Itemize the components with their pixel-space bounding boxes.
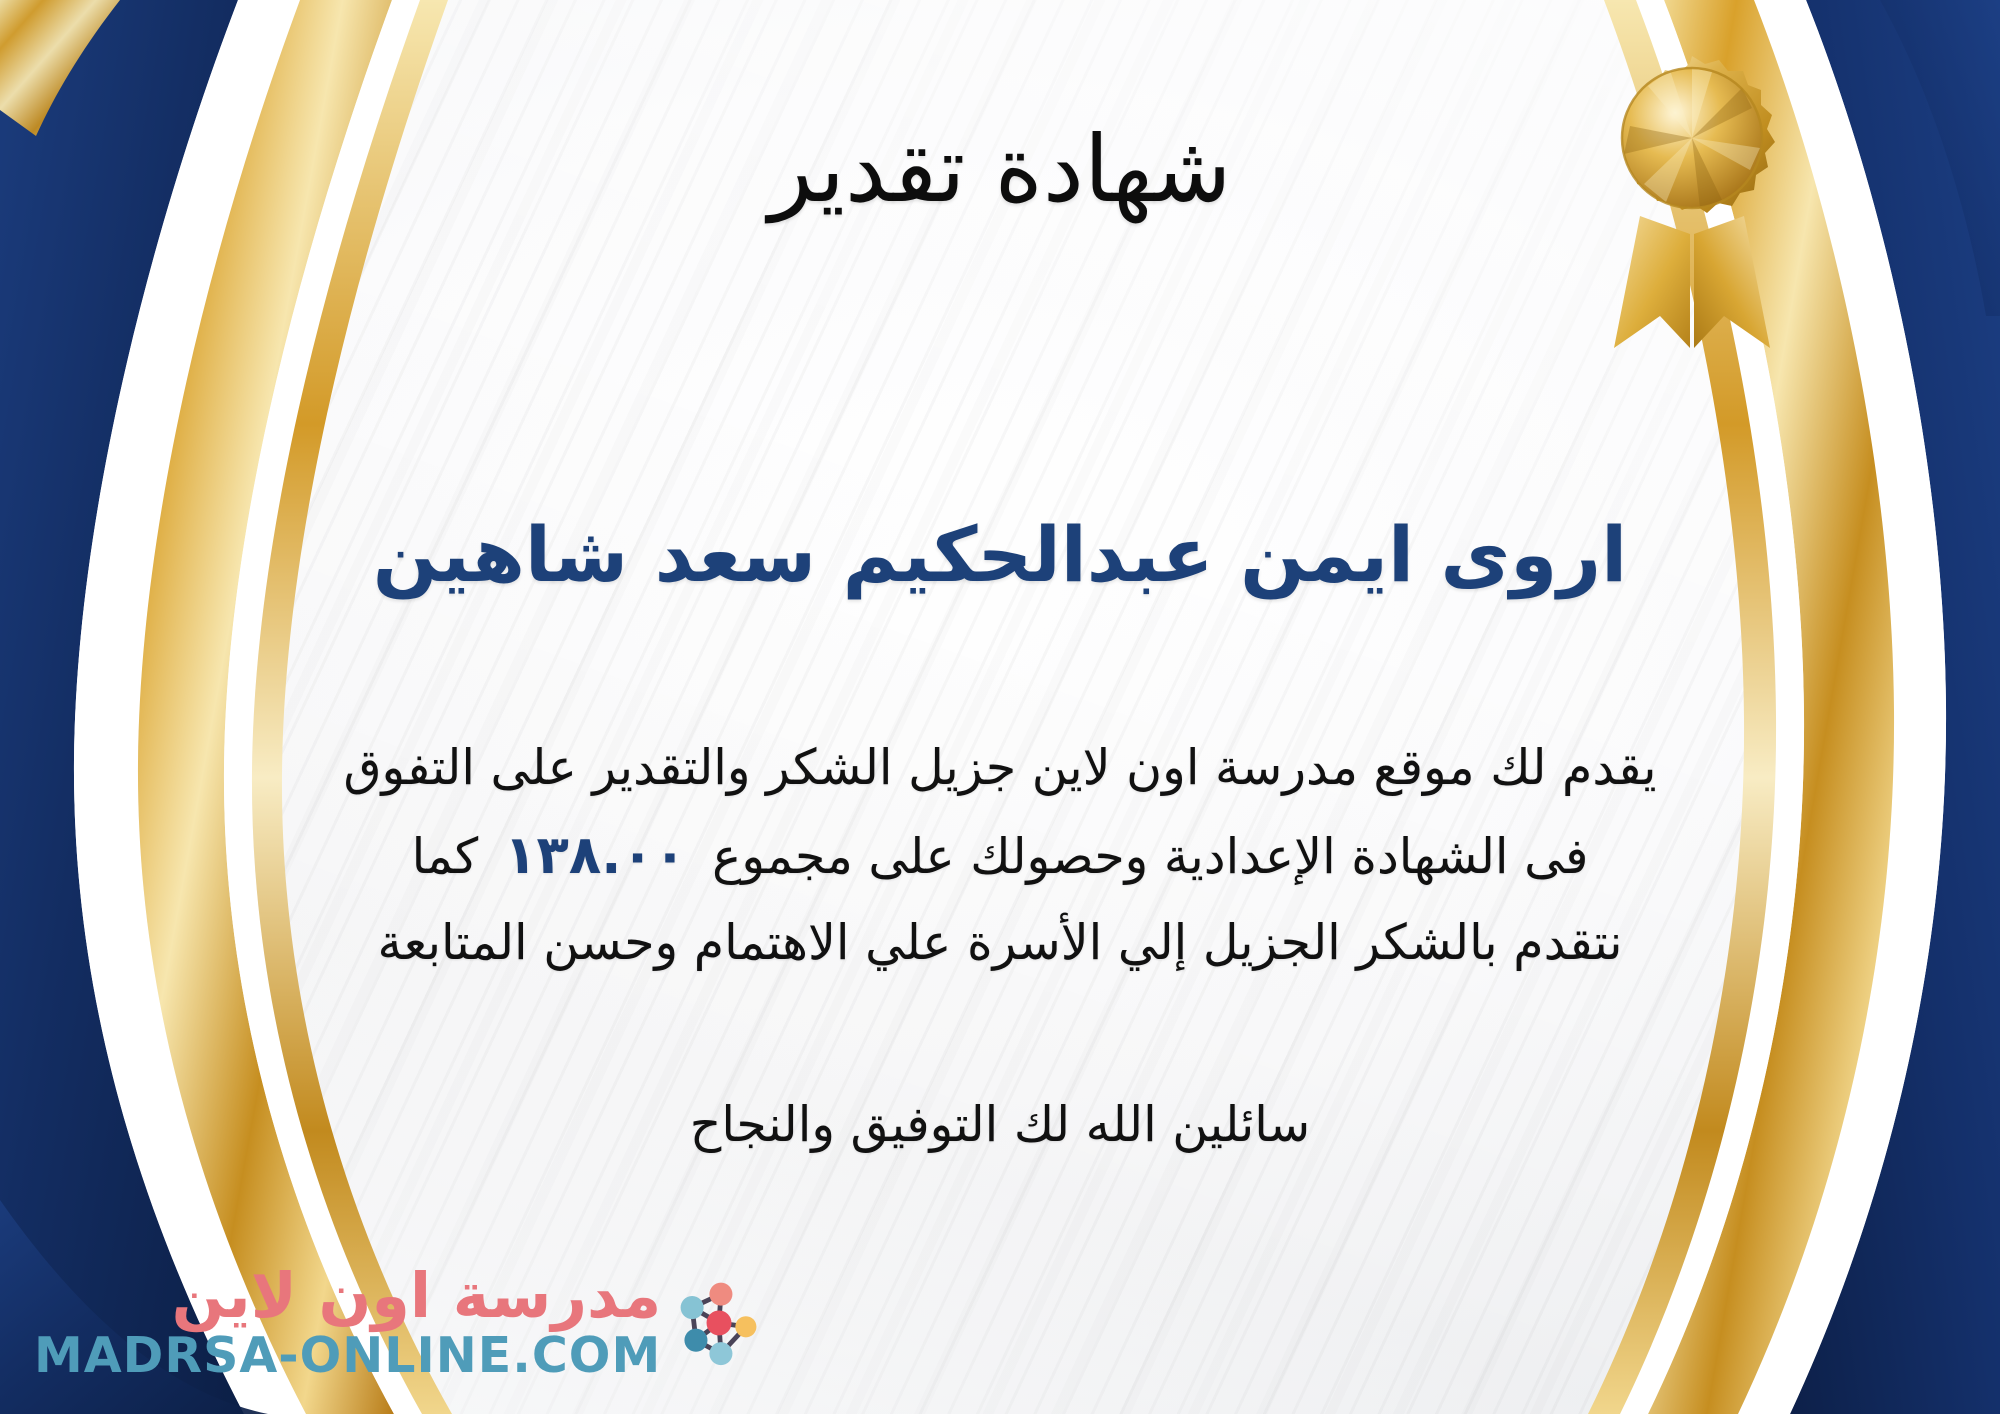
certificate-page: شهادة تقدير اروى ايمن عبدالحكيم سعد شاهي… <box>0 0 2000 1414</box>
body-line-3: نتقدم بالشكر الجزيل إلي الأسرة علي الاهت… <box>88 901 1912 985</box>
certificate-body: يقدم لك موقع مدرسة اون لاين جزيل الشكر و… <box>0 726 2000 986</box>
closing-wish: سائلين الله لك التوفيق والنجاح <box>0 1096 2000 1153</box>
logo-arabic-name: مدرسة اون لاين <box>172 1265 662 1327</box>
student-name: اروى ايمن عبدالحكيم سعد شاهين <box>0 512 2000 597</box>
logo-domain: MADRSA-ONLINE.COM <box>34 1331 661 1380</box>
grade-total-value: ١٣٨.٠٠ <box>478 825 712 886</box>
certificate-title: شهادة تقدير <box>0 122 2000 219</box>
logo-text-block: مدرسة اون لاين MADRSA-ONLINE.COM <box>34 1265 661 1380</box>
body-line-1: يقدم لك موقع مدرسة اون لاين جزيل الشكر و… <box>88 726 1912 810</box>
certificate-content: شهادة تقدير اروى ايمن عبدالحكيم سعد شاهي… <box>0 0 2000 1414</box>
body-line-2: فى الشهادة الإعدادية وحصولك على مجموع١٣٨… <box>88 810 1912 901</box>
site-logo[interactable]: مدرسة اون لاين MADRSA-ONLINE.COM <box>34 1265 767 1380</box>
body-line-2-suffix: كما <box>412 828 479 885</box>
body-line-2-prefix: فى الشهادة الإعدادية وحصولك على مجموع <box>712 828 1588 885</box>
network-nodes-icon <box>671 1273 767 1369</box>
